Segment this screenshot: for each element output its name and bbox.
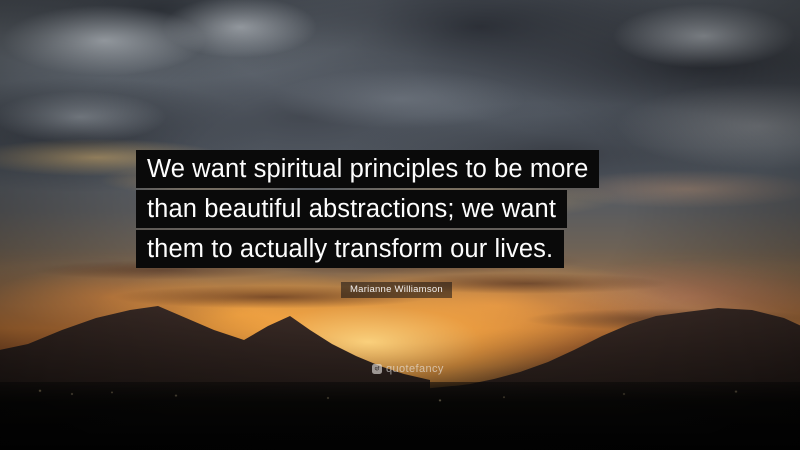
quote-poster: We want spiritual principles to be more … (0, 0, 800, 450)
quote-line-2: than beautiful abstractions; we want (136, 190, 567, 228)
quote-text-block: We want spiritual principles to be more … (136, 150, 599, 268)
town-lights (0, 382, 800, 422)
foothills (0, 382, 800, 450)
left-mountain (0, 306, 430, 450)
quote-line-3: them to actually transform our lives. (136, 230, 564, 268)
quote-author: Marianne Williamson (341, 282, 452, 298)
quote-line-1: We want spiritual principles to be more (136, 150, 599, 188)
quotefancy-logo-initials: qf (375, 367, 380, 372)
right-mountain (440, 308, 800, 450)
quotefancy-brand-label: quotefancy (386, 363, 444, 375)
quotefancy-watermark: qf quotefancy (372, 363, 444, 375)
quotefancy-logo-icon: qf (372, 364, 382, 374)
foreground-valley (0, 382, 800, 450)
